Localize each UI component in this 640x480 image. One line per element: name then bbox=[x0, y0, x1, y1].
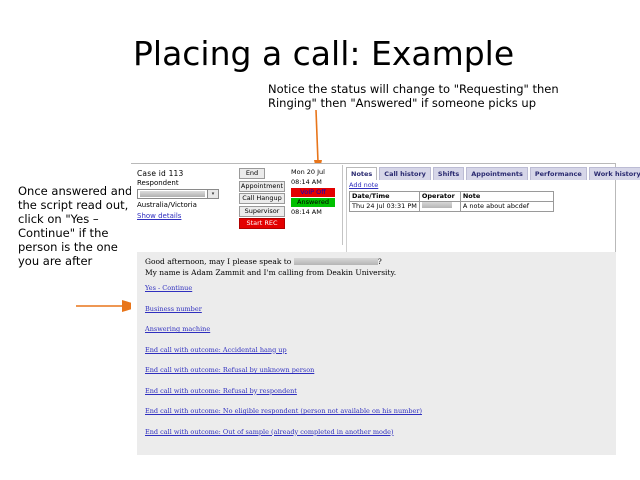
cell-note: A note about abcdef bbox=[460, 202, 553, 212]
answered-status-badge: Answered bbox=[291, 198, 335, 207]
table-header-row: Date/Time Operator Note bbox=[350, 192, 554, 202]
column-header-note: Note bbox=[460, 192, 553, 202]
tab-shifts[interactable]: Shifts bbox=[433, 167, 464, 180]
tab-appointments[interactable]: Appointments bbox=[466, 167, 528, 180]
link-refusal-respondent[interactable]: End call with outcome: Refusal by respon… bbox=[145, 387, 422, 396]
notes-table: Date/Time Operator Note Thu 24 Jul 03:31… bbox=[349, 191, 554, 212]
respondent-label: Respondent bbox=[137, 179, 237, 188]
cell-datetime: Thu 24 Jul 03:31 PM bbox=[350, 202, 420, 212]
page-title: Placing a call: Example bbox=[133, 34, 514, 73]
case-info-block: Case id 113 Respondent ▾ Australia/Victo… bbox=[137, 169, 237, 221]
greeting-line1-after: ? bbox=[378, 257, 382, 266]
appointment-button[interactable]: Appointment bbox=[239, 181, 285, 192]
link-refusal-unknown-person[interactable]: End call with outcome: Refusal by unknow… bbox=[145, 366, 422, 375]
respondent-select[interactable]: ▾ bbox=[137, 189, 219, 199]
column-header-datetime: Date/Time bbox=[350, 192, 420, 202]
chevron-down-icon[interactable]: ▾ bbox=[207, 190, 218, 198]
annotation-continue-note: Once answered and the script read out, c… bbox=[18, 184, 136, 268]
redacted-name bbox=[294, 258, 378, 265]
script-greeting: Good afternoon, may I please speak to ? … bbox=[145, 256, 396, 278]
case-id-label: Case id 113 bbox=[137, 169, 237, 178]
panel-vertical-divider bbox=[342, 165, 343, 245]
respondent-redacted-value bbox=[140, 191, 205, 197]
link-out-of-sample[interactable]: End call with outcome: Out of sample (al… bbox=[145, 428, 422, 437]
tab-notes[interactable]: Notes bbox=[346, 167, 377, 180]
call-action-buttons: End Appointment Call Hangup Supervisor S… bbox=[239, 168, 287, 231]
application-screenshot: Case id 113 Respondent ▾ Australia/Victo… bbox=[131, 163, 616, 455]
script-outcome-links: Yes - Continue Business number Answering… bbox=[145, 284, 422, 448]
annotation-status-note: Notice the status will change to "Reques… bbox=[268, 82, 598, 110]
link-accidental-hang-up[interactable]: End call with outcome: Accidental hang u… bbox=[145, 346, 422, 355]
show-details-link[interactable]: Show details bbox=[137, 212, 181, 221]
start-rec-button[interactable]: Start REC bbox=[239, 218, 285, 229]
call-hangup-button[interactable]: Call Hangup bbox=[239, 193, 285, 204]
tab-call-history[interactable]: Call history bbox=[379, 167, 431, 180]
panel-top-divider bbox=[131, 163, 616, 164]
column-header-operator: Operator bbox=[419, 192, 460, 202]
supervisor-button[interactable]: Supervisor bbox=[239, 206, 285, 217]
timezone-label: Australia/Victoria bbox=[137, 201, 237, 210]
table-row[interactable]: Thu 24 Jul 03:31 PM A note about abcdef bbox=[350, 202, 554, 212]
tab-bar: Notes Call history Shifts Appointments P… bbox=[346, 167, 640, 180]
link-yes-continue[interactable]: Yes - Continue bbox=[145, 284, 422, 293]
voip-status-badge: VoIP Off bbox=[291, 188, 335, 197]
status-time-bottom: 08:14 AM bbox=[291, 208, 337, 218]
end-button[interactable]: End bbox=[239, 168, 265, 179]
greeting-line2: My name is Adam Zammit and I'm calling f… bbox=[145, 268, 396, 277]
script-pane: Good afternoon, may I please speak to ? … bbox=[137, 252, 616, 455]
status-date: Mon 20 Jul bbox=[291, 168, 337, 178]
add-note-link[interactable]: Add note bbox=[349, 181, 378, 189]
tab-work-history[interactable]: Work history bbox=[589, 167, 640, 180]
status-time-top: 08:14 AM bbox=[291, 178, 337, 188]
cell-operator bbox=[419, 202, 460, 212]
link-business-number[interactable]: Business number bbox=[145, 305, 422, 314]
greeting-line1-before: Good afternoon, may I please speak to bbox=[145, 257, 294, 266]
call-status-block: Mon 20 Jul 08:14 AM VoIP Off Answered 08… bbox=[291, 168, 337, 218]
link-answering-machine[interactable]: Answering machine bbox=[145, 325, 422, 334]
slide-canvas: Placing a call: Example Notice the statu… bbox=[0, 0, 640, 480]
tab-performance[interactable]: Performance bbox=[530, 167, 587, 180]
link-no-eligible-respondent[interactable]: End call with outcome: No eligible respo… bbox=[145, 407, 422, 416]
notes-tab-panel: Add note Date/Time Operator Note Thu 24 … bbox=[346, 180, 615, 252]
